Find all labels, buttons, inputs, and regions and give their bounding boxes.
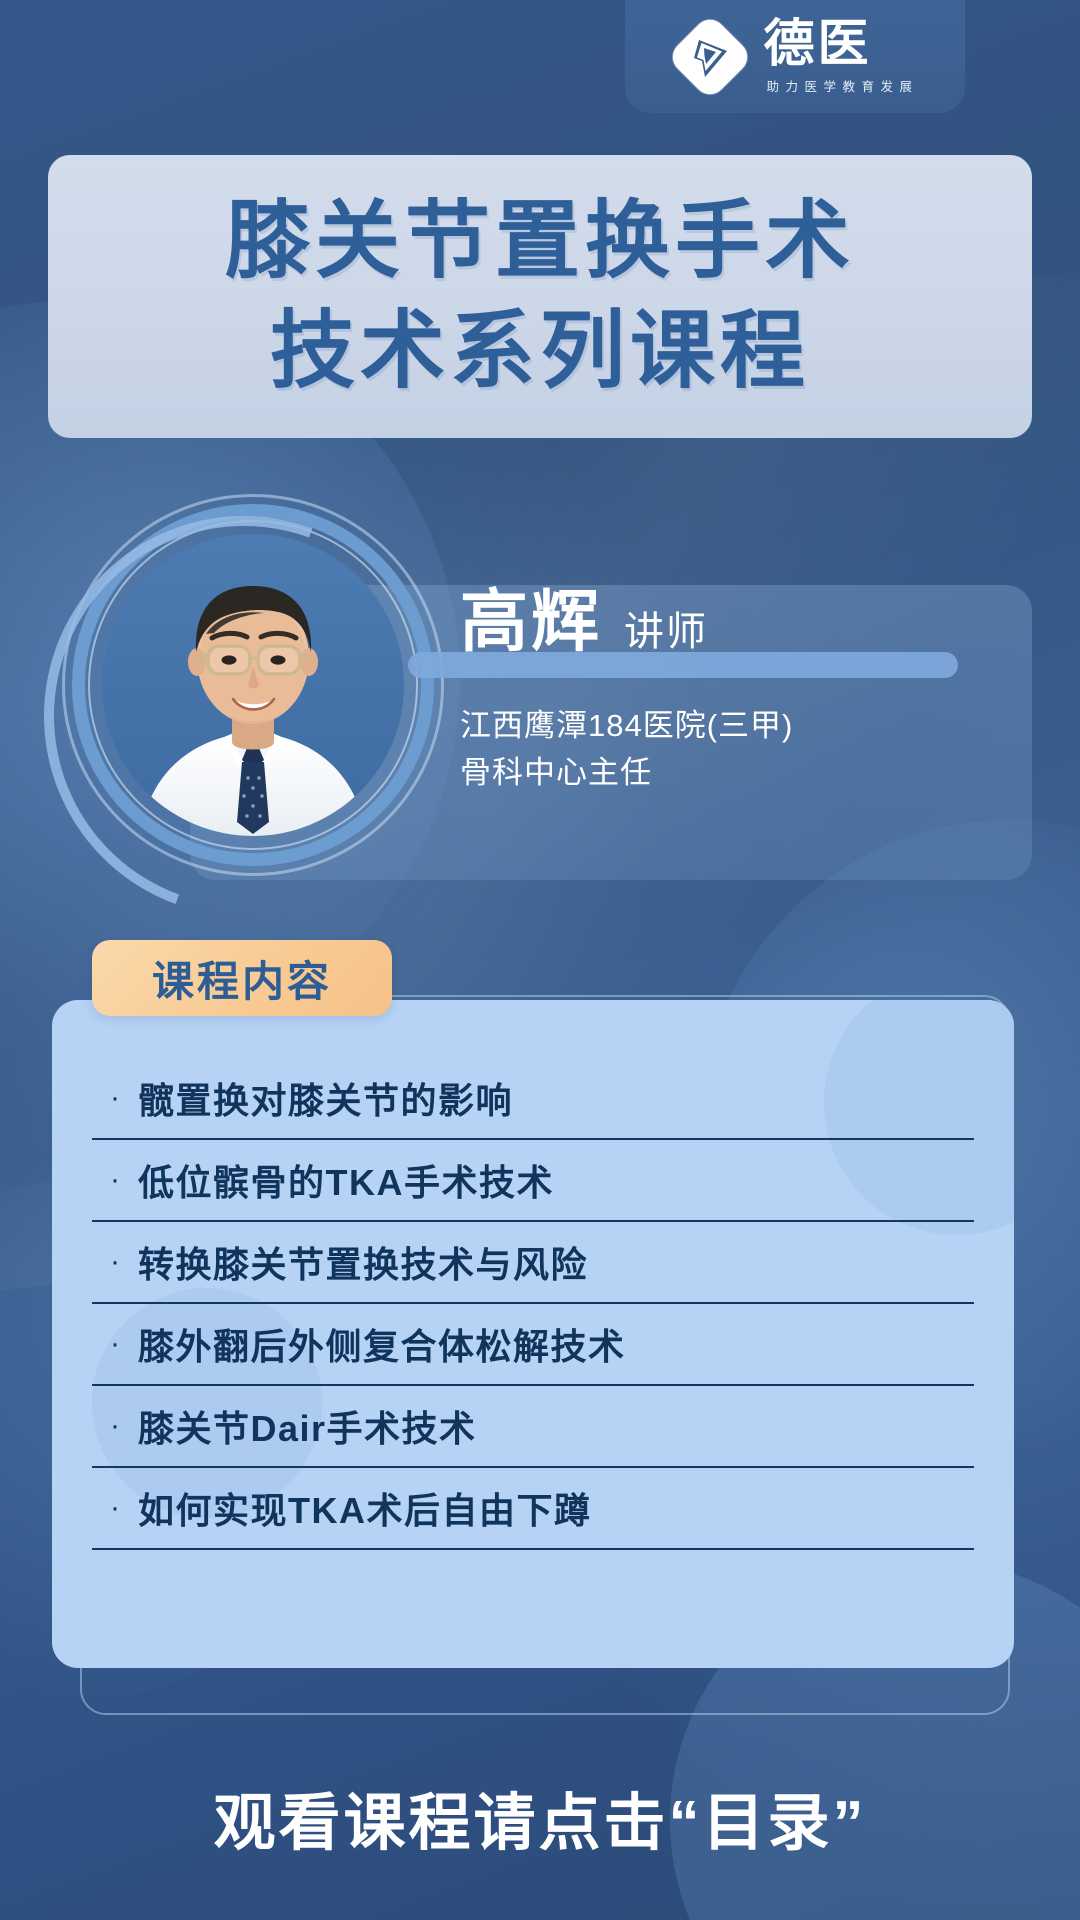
speaker-name: 高辉 xyxy=(460,588,602,656)
course-content-badge-label: 课程内容 xyxy=(152,948,332,1009)
speaker-credentials: 江西鹰潭184医院(三甲) 骨科中心主任 xyxy=(460,702,1020,796)
portrait-ring-decoration xyxy=(58,490,448,880)
list-item[interactable]: · 髋置换对膝关节的影响 xyxy=(92,1058,974,1140)
list-item[interactable]: · 膝外翻后外侧复合体松解技术 xyxy=(92,1304,974,1386)
footer-cta-text: 观看课程请点击“目录” xyxy=(0,1772,1080,1862)
course-title-line-2: 技术系列课程 xyxy=(270,300,810,404)
course-title-line-1: 膝关节置换手术 xyxy=(225,190,855,294)
list-item[interactable]: · 转换膝关节置换技术与风险 xyxy=(92,1222,974,1304)
bullet-icon: · xyxy=(92,1165,138,1195)
brand-logo-plate: 德医 助力医学教育发展 xyxy=(625,0,965,113)
speaker-avatar xyxy=(102,534,404,836)
speaker-credential-line: 骨科中心主任 xyxy=(460,749,1020,796)
play-diamond-icon xyxy=(671,18,749,96)
course-list: · 髋置换对膝关节的影响 · 低位髌骨的TKA手术技术 · 转换膝关节置换技术与… xyxy=(92,1058,974,1550)
brand-wordmark: 德医 助力医学教育发展 xyxy=(763,18,918,94)
speaker-info: 高辉 讲师 江西鹰潭184医院(三甲) 骨科中心主任 xyxy=(460,588,1020,796)
speaker-role: 讲师 xyxy=(624,612,708,652)
bullet-icon: · xyxy=(92,1493,138,1523)
bullet-icon: · xyxy=(92,1329,138,1359)
list-item-label: 膝外翻后外侧复合体松解技术 xyxy=(138,1318,626,1370)
brand-tagline: 助力医学教育发展 xyxy=(763,76,918,95)
list-item[interactable]: · 膝关节Dair手术技术 xyxy=(92,1386,974,1468)
bullet-icon: · xyxy=(92,1247,138,1277)
list-item-label: 髋置换对膝关节的影响 xyxy=(138,1072,513,1124)
course-title-card: 膝关节置换手术 技术系列课程 xyxy=(48,155,1032,438)
speaker-name-row: 高辉 讲师 xyxy=(460,588,1020,684)
bullet-icon: · xyxy=(92,1411,138,1441)
list-item[interactable]: · 如何实现TKA术后自由下蹲 xyxy=(92,1468,974,1550)
list-item-label: 膝关节Dair手术技术 xyxy=(138,1400,477,1452)
brand-name: 德医 xyxy=(763,18,871,70)
bullet-icon: · xyxy=(92,1083,138,1113)
course-content-badge: 课程内容 xyxy=(92,940,392,1016)
poster-root: 德医 助力医学教育发展 膝关节置换手术 技术系列课程 xyxy=(0,0,1080,1920)
course-content-card: · 髋置换对膝关节的影响 · 低位髌骨的TKA手术技术 · 转换膝关节置换技术与… xyxy=(52,1000,1014,1668)
list-item-label: 转换膝关节置换技术与风险 xyxy=(138,1236,588,1288)
list-item-label: 低位髌骨的TKA手术技术 xyxy=(138,1154,554,1206)
list-item-label: 如何实现TKA术后自由下蹲 xyxy=(138,1482,592,1534)
list-item[interactable]: · 低位髌骨的TKA手术技术 xyxy=(92,1140,974,1222)
speaker-credential-line: 江西鹰潭184医院(三甲) xyxy=(460,702,1020,749)
